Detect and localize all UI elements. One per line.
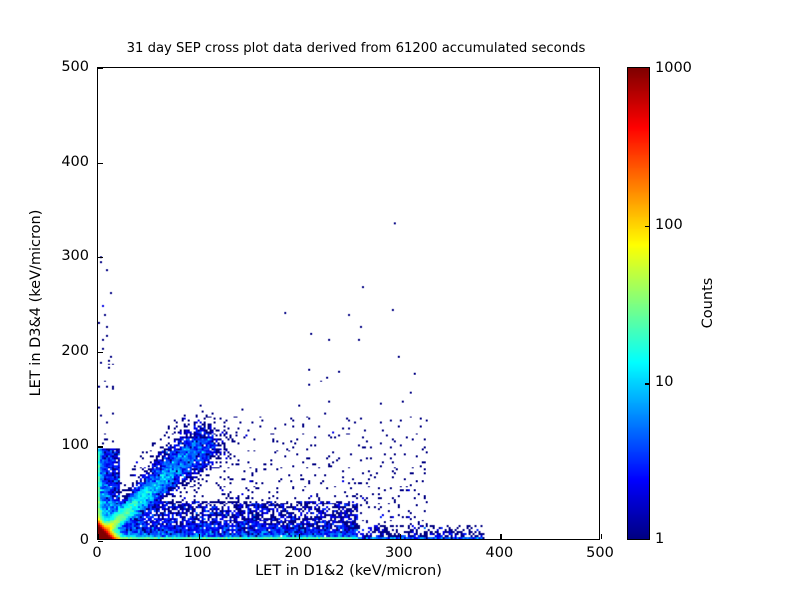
x-tick-label: 400 (486, 545, 514, 561)
y-tick-mark (98, 352, 103, 353)
x-tick-label: 100 (184, 545, 212, 561)
y-tick-label: 300 (41, 248, 89, 264)
colorbar (627, 67, 650, 540)
x-tick-label: 300 (385, 545, 413, 561)
x-tick-label: 500 (586, 545, 614, 561)
y-tick-label: 100 (41, 437, 89, 453)
y-tick-label: 500 (41, 59, 89, 75)
y-tick-mark (98, 68, 103, 69)
y-tick-mark (98, 163, 103, 164)
colorbar-title: Counts (700, 173, 716, 433)
x-tick-mark (400, 534, 401, 539)
x-tick-label: 200 (284, 545, 312, 561)
y-tick-mark (98, 446, 103, 447)
x-tick-mark (601, 534, 602, 539)
colorbar-gradient (628, 68, 649, 539)
x-tick-mark (299, 534, 300, 539)
y-tick-mark (98, 541, 103, 542)
plot-title-line-1: 31 day SEP cross plot data derived from … (0, 40, 712, 57)
x-tick-mark (500, 534, 501, 539)
x-axis-title: LET in D1&2 (keV/micron) (97, 563, 600, 579)
y-tick-label: 200 (41, 343, 89, 359)
colorbar-tick-mark (645, 383, 649, 384)
y-tick-label: 0 (41, 532, 89, 548)
plot-axes (97, 67, 600, 540)
y-tick-label: 400 (41, 154, 89, 170)
colorbar-tick-label: 1000 (655, 60, 692, 76)
scatter-heatmap-plot-area (98, 68, 599, 539)
figure-canvas: 31 day SEP cross plot data derived from … (0, 0, 800, 600)
colorbar-tick-mark (645, 226, 649, 227)
x-tick-mark (98, 534, 99, 539)
x-tick-mark (199, 534, 200, 539)
colorbar-tick-label: 10 (655, 374, 673, 390)
y-tick-mark (98, 257, 103, 258)
colorbar-tick-label: 1 (655, 531, 664, 547)
y-axis-title: LET in D3&4 (keV/micron) (28, 153, 44, 453)
x-tick-label: 0 (92, 545, 101, 561)
colorbar-tick-label: 100 (655, 217, 683, 233)
